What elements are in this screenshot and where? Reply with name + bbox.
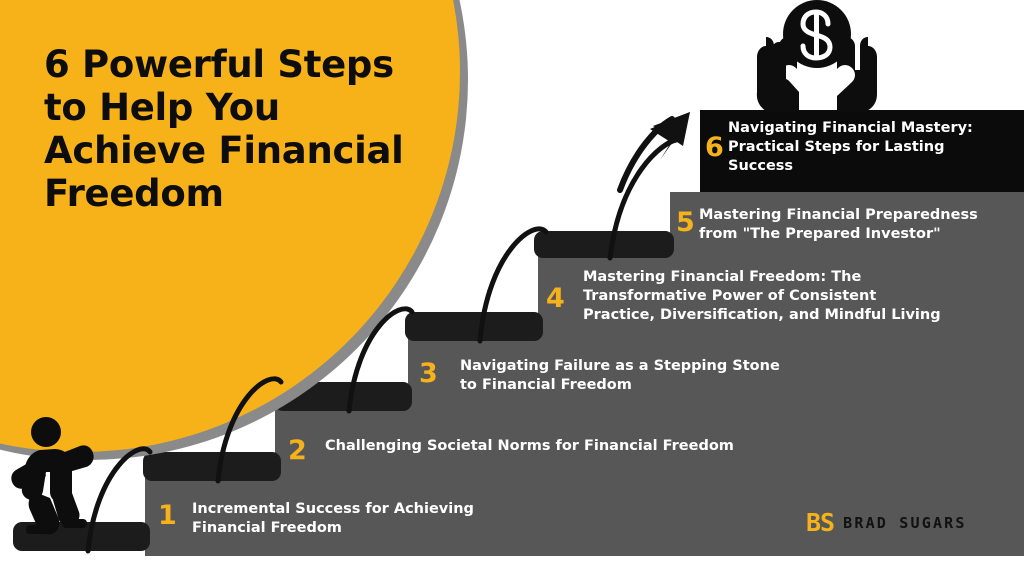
page-title-line-1: 6 Powerful Steps [44, 44, 444, 87]
step-number-3: 3 [419, 360, 438, 387]
upward-arrow-icon [620, 112, 690, 190]
step-label-6-line-1: Navigating Financial Mastery: [728, 119, 1022, 138]
step-number-2: 2 [288, 437, 307, 464]
step-label-2: Challenging Societal Norms for Financial… [325, 437, 1015, 456]
step-label-3-line-2: to Financial Freedom [460, 376, 1020, 395]
logo-wordmark: BRAD SUGARS [843, 514, 967, 532]
step-label-3-line-1: Navigating Failure as a Stepping Stone [460, 357, 1020, 376]
step-label-6: Navigating Financial Mastery: Practical … [728, 119, 1022, 176]
step-number-4: 4 [546, 285, 565, 312]
step-label-4-line-2: Transformative Power of Consistent [583, 287, 1024, 306]
step-number-1: 1 [158, 502, 177, 529]
page-title-line-3: Achieve Financial [44, 130, 444, 173]
step-label-1-line-1: Incremental Success for Achieving [192, 500, 792, 519]
step-label-1-line-2: Financial Freedom [192, 519, 792, 538]
step-label-4: Mastering Financial Freedom: The Transfo… [583, 268, 1024, 325]
page-title-line-2: to Help You [44, 87, 444, 130]
logo-monogram: BS [806, 508, 834, 537]
step-number-6: 6 [705, 134, 724, 161]
step-tread-2 [143, 452, 281, 481]
step-number-5: 5 [676, 209, 695, 236]
step-label-6-line-3: Success [728, 157, 1022, 176]
step-label-2-line-1: Challenging Societal Norms for Financial… [325, 437, 1015, 456]
hands-holding-dollar-coin-icon [757, 0, 877, 113]
step-label-5-line-1: Mastering Financial Preparedness [699, 206, 1024, 225]
step-tread-5 [534, 231, 674, 258]
step-tread-1 [13, 522, 150, 551]
page-title-line-4: Freedom [44, 173, 444, 216]
brand-logo: BS BRAD SUGARS [806, 508, 967, 537]
step-label-6-line-2: Practical Steps for Lasting [728, 138, 1022, 157]
step-label-5: Mastering Financial Preparedness from "T… [699, 206, 1024, 244]
step-label-4-line-3: Practice, Diversification, and Mindful L… [583, 306, 1024, 325]
step-label-3: Navigating Failure as a Stepping Stone t… [460, 357, 1020, 395]
infographic-canvas: 6 5 4 3 2 1 Navigating Financial Mastery… [0, 0, 1024, 576]
step-label-5-line-2: from "The Prepared Investor" [699, 225, 1024, 244]
step-label-4-line-1: Mastering Financial Freedom: The [583, 268, 1024, 287]
step-tread-4 [405, 312, 543, 341]
page-title: 6 Powerful Steps to Help You Achieve Fin… [44, 44, 444, 216]
step-label-1: Incremental Success for Achieving Financ… [192, 500, 792, 538]
